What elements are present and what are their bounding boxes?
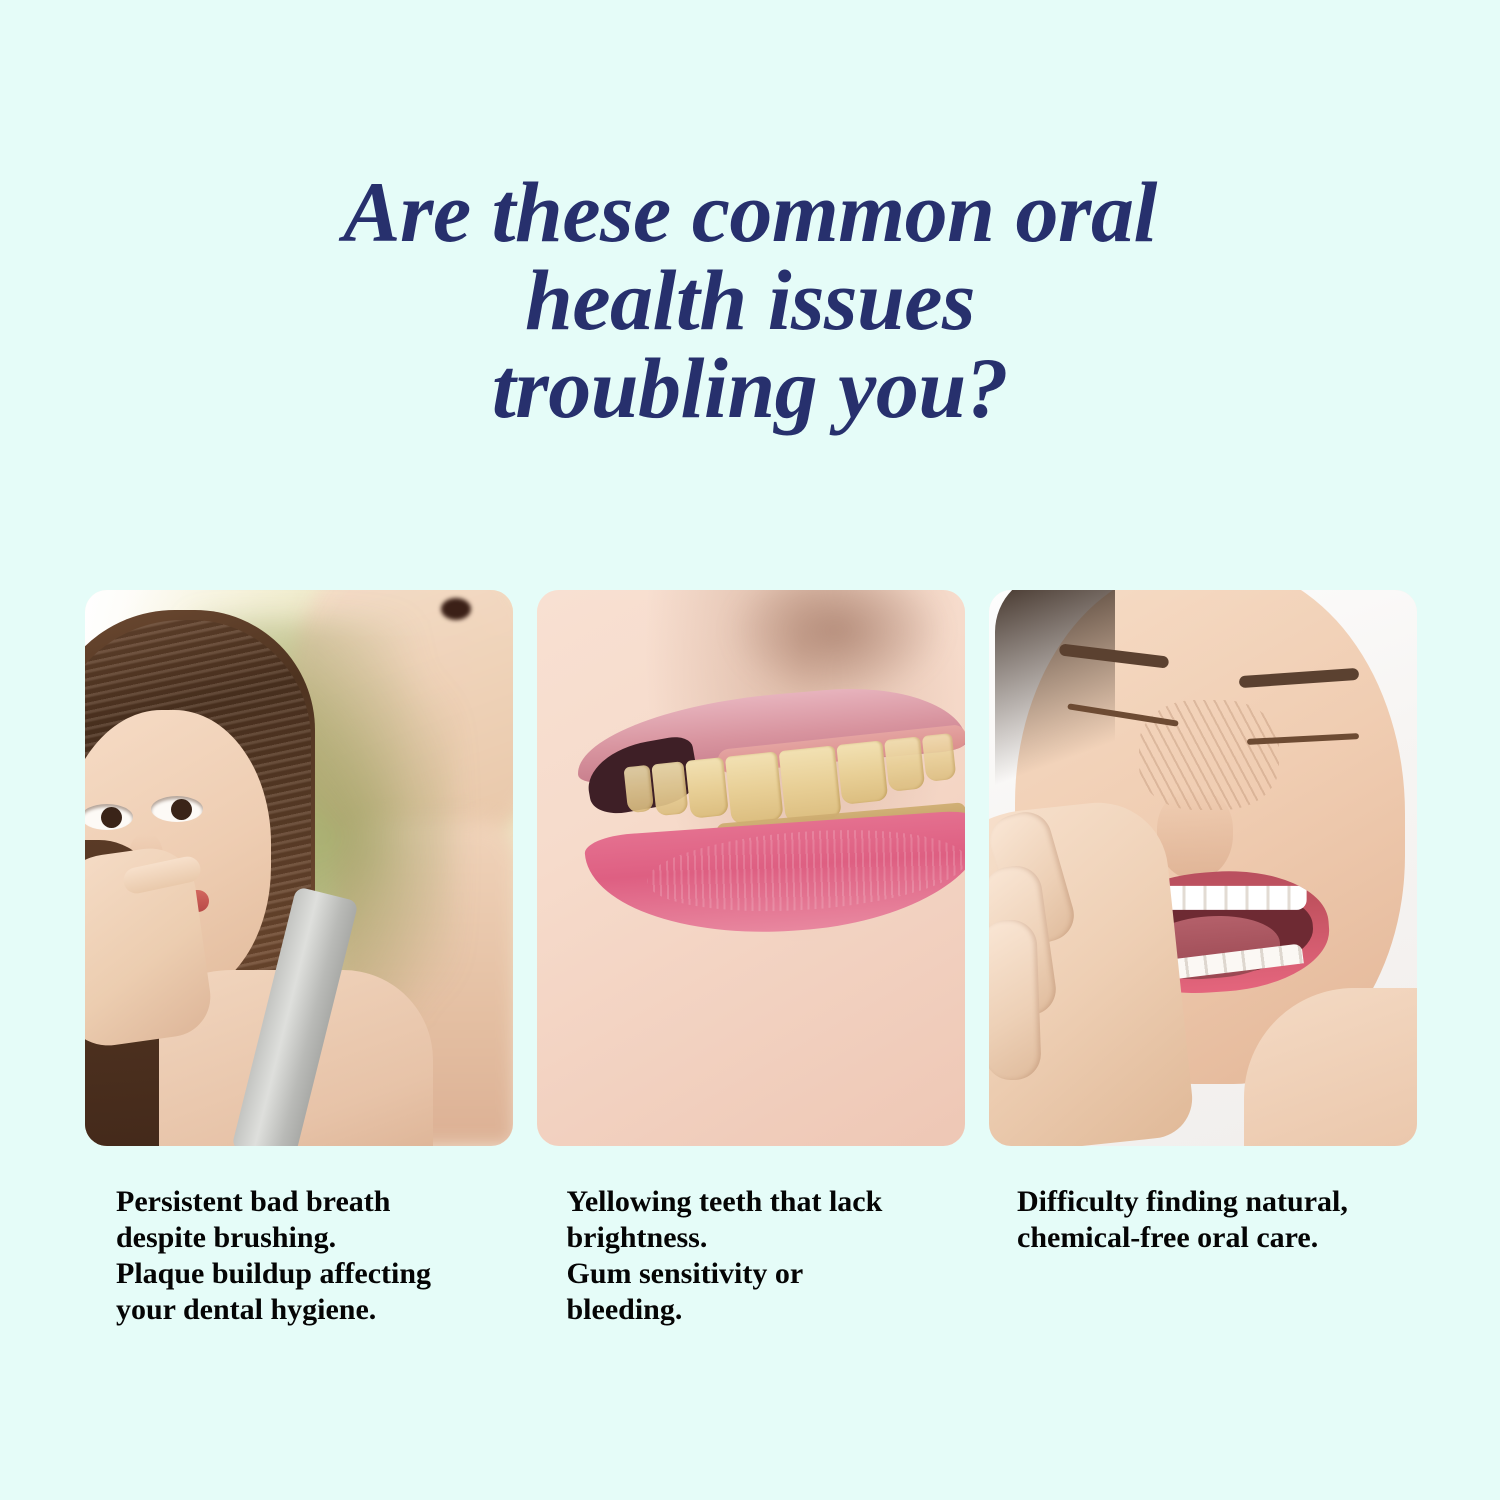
issue-image-tooth-pain (989, 590, 1417, 1146)
yellow-tooth (685, 757, 729, 819)
page-title-line-1: Are these common oral (0, 168, 1500, 256)
issue-caption-row: Persistent bad breath despite brushing. … (85, 1184, 1417, 1328)
caption-bad-breath: Persistent bad breath despite brushing. … (85, 1184, 516, 1328)
yellow-tooth (725, 751, 784, 824)
bad-breath-man-nostril (441, 598, 471, 620)
tooth-pain-hair-wisp (995, 590, 1115, 802)
yellow-tooth (922, 733, 957, 782)
caption-line: despite brushing. (116, 1220, 516, 1256)
yellow-tooth (623, 765, 654, 813)
page-title-line-3: troubling you? (0, 344, 1500, 432)
bad-breath-eye-right (151, 796, 203, 822)
yellow-tooth (779, 745, 842, 822)
caption-yellow-teeth: Yellowing teeth that lack brightness. Gu… (536, 1184, 967, 1328)
bad-breath-iris-right (171, 799, 192, 820)
caption-line: Difficulty finding natural, (1017, 1184, 1417, 1220)
issue-image-bad-breath (85, 590, 513, 1146)
yellow-tooth (884, 736, 925, 791)
tooth-pain-nose (1157, 790, 1233, 880)
page-title-line-2: health issues (0, 256, 1500, 344)
caption-line: Yellowing teeth that lack (567, 1184, 967, 1220)
issue-image-yellow-teeth (537, 590, 965, 1146)
yellow-tooth (651, 761, 688, 816)
tooth-pain-finger (989, 919, 1042, 1081)
page-title: Are these common oral health issues trou… (0, 168, 1500, 432)
caption-line: Plaque buildup affecting (116, 1256, 516, 1292)
bad-breath-iris-left (101, 807, 122, 828)
caption-line: bleeding. (567, 1292, 967, 1328)
issue-image-row (85, 590, 1417, 1146)
caption-line: Persistent bad breath (116, 1184, 516, 1220)
caption-line: chemical-free oral care. (1017, 1220, 1417, 1256)
caption-line: your dental hygiene. (116, 1292, 516, 1328)
caption-line: Gum sensitivity or (567, 1256, 967, 1292)
caption-tooth-pain: Difficulty finding natural, chemical-fre… (986, 1184, 1417, 1328)
caption-line: brightness. (567, 1220, 967, 1256)
yellow-teeth-mouth (567, 695, 965, 945)
yellow-tooth (836, 740, 888, 804)
